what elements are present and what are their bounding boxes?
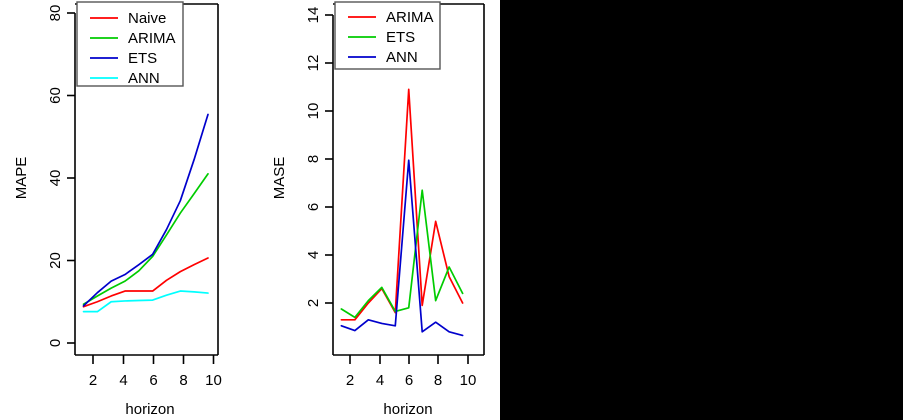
mape-xtick-label-10: 10 xyxy=(205,372,222,389)
mase-xtick-label-2: 2 xyxy=(346,372,354,389)
mase-ytick-label-12: 12 xyxy=(305,55,322,72)
mase-y-axis xyxy=(325,15,333,303)
mase-x-axis xyxy=(350,355,468,364)
mape-ytick-label-60: 60 xyxy=(47,87,64,104)
mase-x-axis-title: horizon xyxy=(383,401,432,418)
mape-y-axis-title: MAPE xyxy=(13,157,30,200)
mase-ytick-label-8: 8 xyxy=(305,155,322,163)
mape-xtick-label-2: 2 xyxy=(89,372,97,389)
mase-legend[interactable]: ARIMAETSANN xyxy=(335,2,440,69)
mase-plot-svg: 14 12 10 8 6 4 2 MASE 2 4 6 xyxy=(250,0,500,420)
series-line-arima xyxy=(84,174,208,304)
legend-label-ets: ETS xyxy=(386,29,415,46)
mape-xtick-label-6: 6 xyxy=(149,372,157,389)
chart-panel-mape: 80 60 40 20 0 MAPE 2 4 xyxy=(0,0,250,420)
mase-xtick-label-10: 10 xyxy=(460,372,477,389)
mase-ytick-label-4: 4 xyxy=(305,251,322,259)
mape-legend[interactable]: NaiveARIMAETSANN xyxy=(77,2,183,87)
legend-label-arima: ARIMA xyxy=(386,9,434,26)
chart-panel-mase: 14 12 10 8 6 4 2 MASE 2 4 6 xyxy=(250,0,500,420)
mape-xtick-label-4: 4 xyxy=(119,372,127,389)
mase-xtick-label-6: 6 xyxy=(405,372,413,389)
mase-ytick-label-6: 6 xyxy=(305,203,322,211)
mase-series-group xyxy=(341,89,462,335)
mape-ytick-label-0: 0 xyxy=(47,339,64,347)
figure-canvas: 80 60 40 20 0 MAPE 2 4 xyxy=(0,0,903,420)
mape-ytick-label-80: 80 xyxy=(47,5,64,22)
legend-label-ann: ANN xyxy=(386,49,418,66)
legend-label-arima: ARIMA xyxy=(128,30,176,47)
mase-xtick-label-8: 8 xyxy=(434,372,442,389)
mape-x-axis-title: horizon xyxy=(125,401,174,418)
legend-label-ann: ANN xyxy=(128,70,160,87)
mape-series-group xyxy=(84,114,208,311)
legend-label-naive: Naive xyxy=(128,10,166,27)
mase-ytick-label-2: 2 xyxy=(305,299,322,307)
mape-ytick-label-20: 20 xyxy=(47,252,64,269)
mase-ytick-label-14: 14 xyxy=(305,7,322,24)
mape-y-axis xyxy=(67,13,75,343)
series-line-arima xyxy=(341,89,462,319)
series-line-ets xyxy=(84,114,208,305)
mape-plot-svg: 80 60 40 20 0 MAPE 2 4 xyxy=(0,0,250,420)
mape-ytick-label-40: 40 xyxy=(47,170,64,187)
mape-xtick-label-8: 8 xyxy=(179,372,187,389)
legend-label-ets: ETS xyxy=(128,50,157,67)
mase-ytick-label-10: 10 xyxy=(305,103,322,120)
mase-y-axis-title: MASE xyxy=(271,157,288,200)
mase-xtick-label-4: 4 xyxy=(376,372,384,389)
mape-x-axis xyxy=(93,355,214,364)
series-line-naive xyxy=(84,258,208,307)
